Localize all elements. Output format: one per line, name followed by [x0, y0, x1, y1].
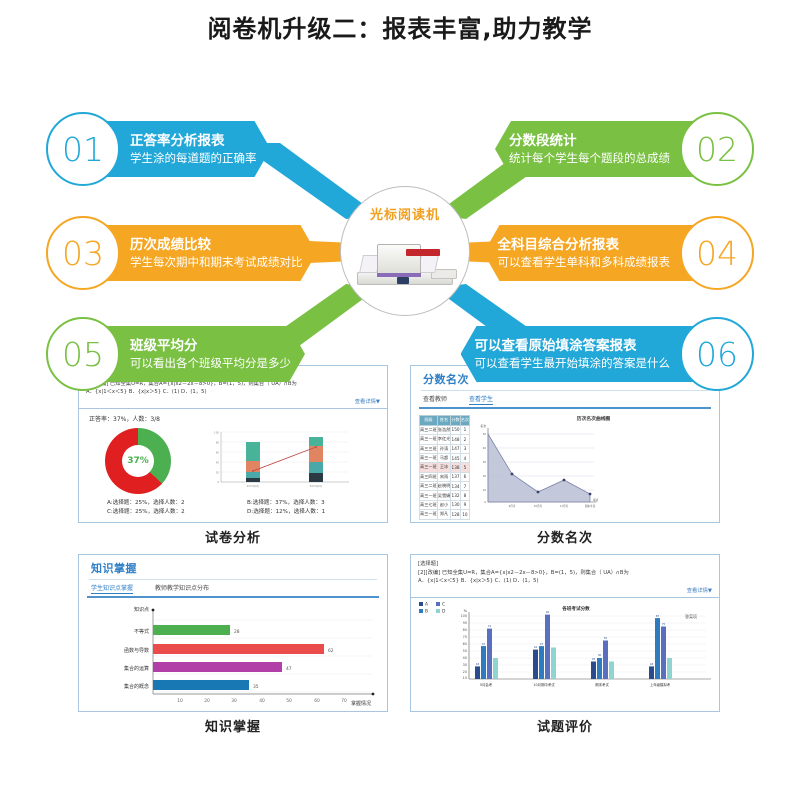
infographic-section: 光标阅读机 01 正答率分析报表 学生涂的每道题的正确率 02 分数段统计 统计… [0, 48, 800, 358]
feature-item-02[interactable]: 02 分数段统计 统计每个学生每个题段的总成绩 [495, 111, 754, 187]
feature-banner-05: 班级平均分 可以看出各个班级平均分是多少 [98, 326, 305, 382]
correct-rate-text: 正答率：37%，人数：3/8 [79, 409, 387, 425]
table-cell: 132 [451, 491, 460, 500]
table-row[interactable]: 高三四班宋雨1376 [420, 472, 470, 481]
table-cell: 145 [451, 453, 460, 462]
table-header-row: 班级 姓名 分数 名次 [420, 416, 470, 426]
svg-text:80: 80 [216, 441, 220, 445]
svg-text:期末考试: 期末考试 [585, 504, 596, 508]
screenshot-knowledge[interactable]: 知识掌握 学生知识点掌握 教师教学知识点分布 [78, 554, 388, 712]
table-cell: 1 [460, 425, 469, 434]
svg-text:掌握情况: 掌握情况 [351, 700, 371, 707]
rank-table[interactable]: 班级 姓名 分数 名次 高三二班张浩然1501高三一班李红光1482高三三班孙涛… [419, 415, 470, 520]
svg-text:10月考: 10月考 [534, 504, 543, 508]
feature-subtitle-01: 学生涂的每道题的正确率 [130, 150, 257, 166]
table-cell: 高三一班 [420, 453, 438, 462]
table-cell: 高三三班 [420, 444, 438, 453]
svg-text:10: 10 [177, 698, 183, 704]
table-cell: 高三一班 [420, 435, 438, 444]
table-cell: 高三一班 [420, 491, 438, 500]
caption-score-rank: 分数名次 [410, 527, 720, 546]
table-cell: 孙涛 [437, 444, 451, 453]
table-cell: 王冰 [437, 463, 451, 472]
feature-number-05: 05 [46, 317, 120, 391]
table-cell: 5 [460, 463, 469, 472]
table-cell: 130 [451, 500, 460, 509]
svg-text:名次: 名次 [481, 424, 487, 428]
legend-c: C [436, 602, 445, 608]
option-stat-c: C:选择题：25%，选择人数：2 [107, 508, 247, 517]
table-cell: 高三四班 [420, 472, 438, 481]
svg-text:70: 70 [341, 698, 347, 704]
panel-knowledge: 知识掌握 学生知识点掌握 教师教学知识点分布 [78, 554, 388, 735]
feature-number-01: 01 [46, 112, 120, 186]
table-cell: 宋雨 [437, 472, 451, 481]
question-block: [选择题] [2][改编] 已知全集U=R，集合A={x|x2－2x－8>0}，… [411, 555, 719, 598]
svg-text:0: 0 [484, 500, 486, 504]
table-cell: 2 [460, 435, 469, 444]
panel-paper-analysis: [选择题] [2][改编] 已知全集U=R，集合A={x|x2－2x－8>0}，… [78, 365, 388, 546]
table-cell: 4 [460, 453, 469, 462]
table-cell: 6 [460, 472, 469, 481]
table-cell: 高三一班 [420, 463, 438, 472]
svg-text:60: 60 [216, 451, 220, 455]
svg-text:70: 70 [463, 635, 467, 639]
feature-item-04[interactable]: 04 全科目综合分析报表 可以查看学生单科和多科成绩报表 [484, 215, 755, 291]
svg-text:47: 47 [482, 642, 486, 646]
tab-underline [87, 596, 379, 598]
col-name: 姓名 [437, 416, 451, 426]
view-detail-link[interactable]: 查看详情▼ [418, 586, 712, 596]
svg-text:92: 92 [546, 610, 550, 614]
svg-text:20: 20 [483, 474, 487, 478]
svg-text:18: 18 [476, 662, 480, 666]
svg-text:30: 30 [231, 698, 237, 704]
table-cell: 赵晓明 [437, 482, 451, 491]
svg-text:0: 0 [217, 480, 219, 484]
rank-chart-title: 历次名次曲线图 [476, 415, 711, 422]
feature-subtitle-02: 统计每个学生每个题段的总成绩 [509, 150, 670, 166]
feature-subtitle-06: 可以查看学生最开始填涂的答案是什么 [475, 355, 671, 371]
table-row[interactable]: 高三一班郑凡12810 [420, 510, 470, 519]
question-line-1: [2][改编] 已知全集U=R，集合A={x|x2－2x－8>0}，B=(1，5… [418, 569, 712, 578]
svg-text:期末考试: 期末考试 [595, 682, 609, 687]
legend-b: B [419, 609, 428, 615]
score-rank-body: 班级 姓名 分数 名次 高三二班张浩然1501高三一班李红光1482高三三班孙涛… [411, 409, 719, 523]
svg-text:47: 47 [286, 666, 292, 672]
svg-text:9月考: 9月考 [509, 504, 516, 508]
feature-number-06: 06 [680, 317, 754, 391]
legend-d: D [436, 609, 445, 615]
svg-text:40: 40 [463, 656, 467, 660]
table-cell: 8 [460, 491, 469, 500]
table-cell: 147 [451, 444, 460, 453]
table-cell: 张浩然 [437, 425, 451, 434]
svg-text:62: 62 [328, 648, 334, 654]
option-stat-d: D:选择题：12%，选择人数：1 [247, 508, 387, 517]
feature-title-01: 正答率分析报表 [130, 133, 257, 150]
svg-text:上年级模拟考: 上年级模拟考 [650, 682, 671, 687]
svg-text:28: 28 [234, 629, 240, 635]
knowledge-tabs: 学生知识点掌握 教师教学知识点分布 [79, 580, 387, 596]
feature-item-03[interactable]: 03 历次成绩比较 学生每次期中和期末考试成绩对比 [46, 215, 317, 291]
center-hub: 光标阅读机 [340, 186, 470, 316]
svg-text:各班考试分数: 各班考试分数 [561, 605, 590, 612]
svg-text:2017年6月: 2017年6月 [310, 484, 322, 488]
svg-text:25: 25 [592, 657, 596, 661]
knowledge-bar-chart: 知识点 掌握情况 28 62 47 35 不等式 函数与导数 [79, 598, 387, 710]
feature-subtitle-05: 可以看出各个班级平均分是多少 [130, 355, 291, 371]
caption-paper-analysis: 试卷分析 [78, 527, 388, 546]
svg-text:10: 10 [463, 676, 467, 680]
svg-text:55: 55 [604, 636, 608, 640]
table-row[interactable]: 高三一班吴雪娟1328 [420, 491, 470, 500]
table-row[interactable]: 高三二班赵晓明1347 [420, 482, 470, 491]
svg-text:集合的运算: 集合的运算 [124, 665, 149, 672]
table-cell: 高三二班 [420, 482, 438, 491]
tab-student-knowledge[interactable]: 学生知识点掌握 [91, 583, 133, 594]
table-row[interactable]: 高三一班李红光1482 [420, 435, 470, 444]
score-rank-tabs: 查看教师 查看学生 [411, 391, 719, 407]
tab-view-teacher[interactable]: 查看教师 [423, 394, 447, 405]
option-stat-a: A:选择题：25%，选择人数：2 [107, 499, 247, 508]
table-cell: 138 [451, 463, 460, 472]
feature-banner-03: 历次成绩比较 学生每次期中和期末考试成绩对比 [98, 225, 317, 281]
svg-text:60: 60 [314, 698, 320, 704]
table-row[interactable]: 高三一班王冰1385 [420, 463, 470, 472]
eval-chart-area: A C B D 各班考试分数 答案项 [411, 598, 719, 698]
svg-text:90: 90 [463, 621, 467, 625]
feature-item-05[interactable]: 05 班级平均分 可以看出各个班级平均分是多少 [46, 316, 305, 392]
svg-text:不等式: 不等式 [134, 628, 149, 635]
col-class: 班级 [420, 416, 438, 426]
svg-text:20: 20 [463, 670, 467, 674]
svg-text:5月会考: 5月会考 [480, 682, 493, 687]
table-cell: 高三一班 [420, 510, 438, 519]
svg-text:100: 100 [214, 431, 219, 435]
legend-a: A [419, 602, 428, 608]
svg-text:35: 35 [253, 684, 259, 690]
view-detail-link[interactable]: 查看详情▼ [86, 397, 380, 407]
tab-view-student[interactable]: 查看学生 [469, 394, 493, 405]
feature-item-01[interactable]: 01 正答率分析报表 学生涂的每道题的正确率 [46, 111, 271, 187]
svg-text:2017年6月: 2017年6月 [247, 484, 259, 488]
table-cell: 马超 [437, 453, 451, 462]
table-cell: 吴雪娟 [437, 491, 451, 500]
svg-text:50: 50 [483, 432, 487, 436]
caption-question-eval: 试题评价 [410, 716, 720, 735]
svg-text:40: 40 [216, 461, 220, 465]
table-cell: 137 [451, 472, 460, 481]
svg-text:30: 30 [598, 653, 602, 657]
donut-center-value: 37% [105, 428, 171, 494]
feature-banner-04: 全科目综合分析报表 可以查看学生单科和多科成绩报表 [484, 225, 703, 281]
svg-text:87: 87 [656, 614, 660, 618]
feature-title-06: 可以查看原始填涂答案报表 [475, 338, 637, 355]
screenshot-question-eval[interactable]: [选择题] [2][改编] 已知全集U=R，集合A={x|x2－2x－8>0}，… [410, 554, 720, 712]
svg-text:函数与导数: 函数与导数 [124, 647, 149, 654]
page-title: 阅卷机升级二：报表丰富,助力教学 [0, 0, 800, 48]
tab-underline [419, 407, 711, 409]
svg-text:考试: 考试 [593, 498, 599, 502]
svg-text:72: 72 [488, 624, 492, 628]
table-cell: 134 [451, 482, 460, 491]
feature-banner-01: 正答率分析报表 学生涂的每道题的正确率 [98, 121, 271, 177]
panel-question-eval: [选择题] [2][改编] 已知全集U=R，集合A={x|x2－2x－8>0}，… [410, 554, 720, 735]
rank-trend-chart: 历次名次曲线图 [476, 415, 711, 523]
table-row[interactable]: 高三七班赵小1309 [420, 500, 470, 509]
feature-title-03: 历次成绩比较 [130, 237, 303, 254]
svg-text:100: 100 [461, 614, 467, 618]
question-line-2: A．{x|1＜x＜5} B．{x|x＞5} C．(1) D．(1，5) [418, 577, 712, 586]
svg-text:11月考: 11月考 [560, 504, 569, 508]
table-cell: 7 [460, 482, 469, 491]
table-cell: 高三二班 [420, 425, 438, 434]
svg-text:42: 42 [534, 645, 538, 649]
feature-title-02: 分数段统计 [509, 133, 577, 150]
svg-text:30: 30 [463, 663, 467, 667]
table-cell: 148 [451, 435, 460, 444]
feature-title-05: 班级平均分 [130, 338, 291, 355]
tab-teacher-knowledge[interactable]: 教师教学知识点分布 [155, 583, 209, 594]
paper-analysis-charts: 37% 10080 60 [79, 425, 387, 497]
table-cell: 3 [460, 444, 469, 453]
feature-subtitle-04: 可以查看学生单科和多科成绩报表 [498, 254, 671, 270]
eval-chart-legend: A C B D [419, 602, 445, 614]
history-stacked-bar-chart: 10080 6040 200 [199, 428, 359, 494]
center-hub-label: 光标阅读机 [370, 204, 440, 223]
scanner-device-icon [353, 235, 457, 289]
table-cell: 128 [451, 510, 460, 519]
svg-text:47: 47 [540, 642, 544, 646]
svg-text:30: 30 [483, 460, 487, 464]
eval-grouped-bar-chart: 各班考试分数 答案项 % 1009080 706050 [411, 598, 720, 698]
feature-item-06[interactable]: 06 可以查看原始填涂答案报表 可以查看学生最开始填涂的答案是什么 [461, 316, 755, 392]
rank-table-caption: 期末考试名次表 [419, 520, 470, 523]
feature-banner-06: 可以查看原始填涂答案报表 可以查看学生最开始填涂的答案是什么 [461, 326, 703, 382]
col-rank: 名次 [460, 416, 469, 426]
table-cell: 9 [460, 500, 469, 509]
svg-text:20: 20 [216, 471, 220, 475]
svg-text:50: 50 [463, 649, 467, 653]
svg-text:%: % [464, 609, 468, 613]
svg-text:40: 40 [259, 698, 265, 704]
svg-text:60: 60 [463, 642, 467, 646]
table-cell: 高三七班 [420, 500, 438, 509]
table-cell: 150 [451, 425, 460, 434]
table-cell: 李红光 [437, 435, 451, 444]
svg-text:知识点: 知识点 [134, 606, 149, 613]
svg-text:集合的概念: 集合的概念 [124, 683, 149, 690]
svg-text:50: 50 [286, 698, 292, 704]
svg-text:80: 80 [463, 628, 467, 632]
feature-number-04: 04 [680, 216, 754, 290]
table-row[interactable]: 高三三班孙涛1473 [420, 444, 470, 453]
svg-text:10月期中考试: 10月期中考试 [533, 682, 555, 687]
feature-number-03: 03 [46, 216, 120, 290]
knowledge-header: 知识掌握 [79, 555, 387, 576]
svg-text:20: 20 [204, 698, 210, 704]
question-tag: [选择题] [418, 560, 712, 569]
feature-number-02: 02 [680, 112, 754, 186]
table-cell: 赵小 [437, 500, 451, 509]
panel-score-rank: 分数名次 查看教师 查看学生 班级 姓名 分数 名次 高三二班张浩然1 [410, 365, 720, 546]
feature-banner-02: 分数段统计 统计每个学生每个题段的总成绩 [495, 121, 702, 177]
table-row[interactable]: 高三二班张浩然1501 [420, 425, 470, 434]
table-row[interactable]: 高三一班马超1454 [420, 453, 470, 462]
caption-knowledge: 知识掌握 [78, 716, 388, 735]
svg-text:18: 18 [650, 662, 654, 666]
table-cell: 10 [460, 510, 469, 519]
svg-text:75: 75 [662, 622, 666, 626]
svg-text:40: 40 [483, 446, 487, 450]
col-score: 分数 [451, 416, 460, 426]
feature-title-04: 全科目综合分析报表 [498, 237, 620, 254]
svg-text:10: 10 [483, 488, 487, 492]
screenshots-section: [选择题] [2][改编] 已知全集U=R，集合A={x|x2－2x－8>0}，… [0, 360, 800, 796]
table-cell: 郑凡 [437, 510, 451, 519]
option-statistics: A:选择题：25%，选择人数：2 B:选择题：37%，选择人数：3 C:选择题：… [79, 497, 387, 517]
rank-table-wrap: 班级 姓名 分数 名次 高三二班张浩然1501高三一班李红光1482高三三班孙涛… [419, 415, 470, 523]
option-stat-b: B:选择题：37%，选择人数：3 [247, 499, 387, 508]
feature-subtitle-03: 学生每次期中和期末考试成绩对比 [130, 254, 303, 270]
